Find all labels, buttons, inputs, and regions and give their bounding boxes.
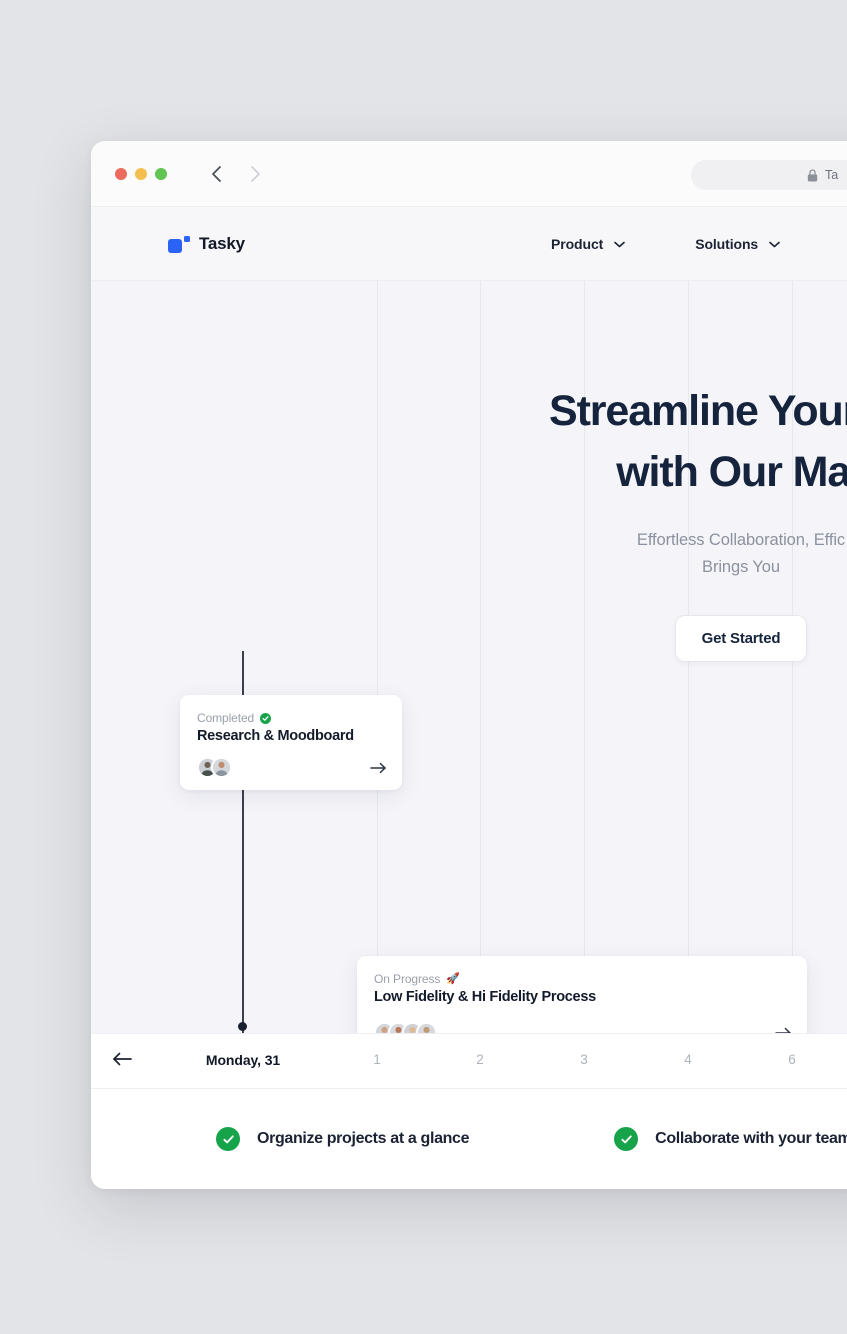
- tasky-logo-icon: [168, 236, 190, 253]
- timeline-label[interactable]: 2: [476, 1052, 483, 1067]
- task-status-label: Completed: [197, 711, 254, 725]
- chevron-down-icon: [614, 241, 625, 248]
- maximize-window-button[interactable]: [155, 168, 167, 180]
- forward-icon[interactable]: [247, 160, 263, 188]
- feature-item: Organize projects at a glance: [216, 1127, 469, 1151]
- page-title: Streamline Your Wo with Our Mar: [391, 381, 847, 503]
- hero-copy: Streamline Your Wo with Our Mar Effortle…: [391, 381, 847, 662]
- timeline-label-active[interactable]: Monday, 31: [206, 1052, 280, 1068]
- task-card-on-progress[interactable]: On Progress 🚀 Low Fidelity & Hi Fidelity…: [357, 956, 807, 1033]
- browser-chrome: Ta: [91, 141, 847, 207]
- address-bar[interactable]: Ta: [691, 160, 847, 190]
- hero-section: Streamline Your Wo with Our Mar Effortle…: [91, 281, 847, 1033]
- task-card-status: Completed: [197, 711, 385, 725]
- feature-label: Organize projects at a glance: [257, 1130, 469, 1148]
- avatar: [211, 757, 232, 778]
- task-card-footer: [374, 1022, 792, 1033]
- site-navigation: Tasky Product Solutions: [91, 207, 847, 281]
- browser-nav-buttons: [209, 160, 263, 188]
- nav-item-product[interactable]: Product: [551, 236, 625, 252]
- get-started-button[interactable]: Get Started: [675, 615, 808, 662]
- hero-subtitle: Effortless Collaboration, Effic Brings Y…: [391, 527, 847, 581]
- avatar: [416, 1022, 437, 1033]
- hero-cta-row: Get Started: [391, 615, 847, 662]
- timeline-label[interactable]: 4: [684, 1052, 691, 1067]
- timeline-label[interactable]: 3: [580, 1052, 587, 1067]
- task-card-title: Research & Moodboard: [197, 728, 385, 744]
- close-window-button[interactable]: [115, 168, 127, 180]
- arrow-left-icon[interactable]: [111, 1051, 133, 1067]
- brand-logo[interactable]: Tasky: [168, 207, 245, 281]
- back-icon[interactable]: [209, 160, 225, 188]
- avatar-group: [197, 757, 232, 778]
- nav-item-product-label: Product: [551, 236, 603, 252]
- timeline-axis: Monday, 31 1 2 3 4 6: [91, 1033, 847, 1089]
- task-status-label: On Progress: [374, 972, 440, 986]
- avatar-group: [374, 1022, 437, 1033]
- task-card-title: Low Fidelity & Hi Fidelity Process: [374, 989, 790, 1005]
- timeline-label[interactable]: 6: [788, 1052, 795, 1067]
- check-circle-icon: [614, 1127, 638, 1151]
- nav-item-solutions-label: Solutions: [695, 236, 758, 252]
- arrow-right-icon[interactable]: [370, 762, 387, 774]
- active-timeline-dot: [238, 1022, 247, 1031]
- browser-window: Ta Tasky Product Solutions: [91, 141, 847, 1189]
- brand-name: Tasky: [199, 234, 245, 254]
- timeline-gridline: [377, 281, 378, 1033]
- feature-item: Collaborate with your team: [614, 1127, 847, 1151]
- nav-links: Product Solutions: [551, 207, 780, 281]
- check-circle-icon: [216, 1127, 240, 1151]
- lock-icon: [807, 169, 818, 182]
- feature-label: Collaborate with your team: [655, 1130, 847, 1148]
- chevron-down-icon: [769, 241, 780, 248]
- task-card-footer: [197, 757, 387, 778]
- rocket-icon: 🚀: [446, 974, 460, 985]
- nav-item-solutions[interactable]: Solutions: [695, 236, 780, 252]
- window-controls: [115, 168, 167, 180]
- feature-list: Organize projects at a glance Collaborat…: [91, 1089, 847, 1189]
- timeline-label[interactable]: 1: [373, 1052, 380, 1067]
- task-card-completed[interactable]: Completed Research & Moodboard: [180, 695, 402, 790]
- minimize-window-button[interactable]: [135, 168, 147, 180]
- check-circle-icon: [260, 713, 271, 724]
- task-card-status: On Progress 🚀: [374, 972, 790, 986]
- url-text: Ta: [825, 168, 838, 182]
